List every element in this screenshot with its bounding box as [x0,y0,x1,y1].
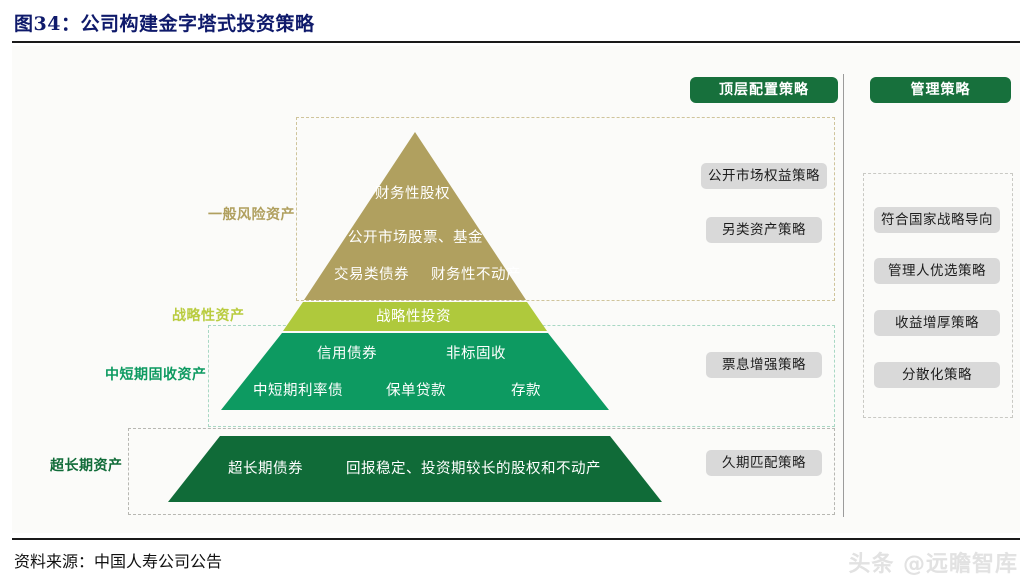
page-title: 图34：公司构建金字塔式投资策略 [14,9,314,36]
mgmt-pill-manager-selection[interactable]: 管理人优选策略 [874,258,1000,284]
tier-item-mid-short-rate-bond: 中短期利率债 [253,379,343,400]
tier-item-deposit: 存款 [511,379,541,400]
tier-label-general-risk: 一般风险资产 [208,204,295,224]
mgmt-pill-diversification[interactable]: 分散化策略 [874,362,1000,388]
footer-divider [12,538,1020,540]
tier-item-nonstandard-fi: 非标固收 [446,342,506,363]
tier-item-public-stock-fund: 公开市场股票、基金 [348,226,483,247]
column-header-top-allocation[interactable]: 顶层配置策略 [690,77,838,103]
column-header-management[interactable]: 管理策略 [870,77,1011,103]
mgmt-pill-national-strategy[interactable]: 符合国家战略导向 [874,207,1000,233]
figure-canvas: 一般风险资产 战略性资产 中短期固收资产 超长期资产 财务性股权 公开市场股票、… [12,46,1020,533]
tier-item-policy-loan: 保单贷款 [386,379,446,400]
tier-label-ultra-long: 超长期资产 [50,455,123,475]
tier-item-credit-bond: 信用债券 [317,342,377,363]
source-note: 资料来源：中国人寿公司公告 [14,548,222,572]
tier-item-financial-realestate: 财务性不动产 [431,263,521,284]
tier-label-mid-short: 中短期固收资产 [105,364,207,384]
watermark: 头条 @远瞻智库 [848,546,1018,578]
tier-item-financial-equity: 财务性股权 [375,182,450,203]
strategy-pill-coupon-enhance[interactable]: 票息增强策略 [706,352,822,378]
strategy-pill-duration-match[interactable]: 久期匹配策略 [706,450,822,476]
strategy-pill-alternative-asset[interactable]: 另类资产策略 [706,217,822,243]
figure-header: 图34：公司构建金字塔式投资策略 [0,0,1032,46]
tier-item-trading-bond: 交易类债券 [334,263,409,284]
tier-item-stable-return-assets: 回报稳定、投资期较长的股权和不动产 [346,457,601,478]
tier-item-strategic-investment: 战略性投资 [376,305,451,326]
strategy-pill-public-equity[interactable]: 公开市场权益策略 [701,163,827,189]
column-divider [843,74,844,517]
tier-item-ultra-long-bond: 超长期债券 [228,457,303,478]
mgmt-pill-yield-enhance[interactable]: 收益增厚策略 [874,310,1000,336]
tier-label-strategic: 战略性资产 [172,305,245,325]
title-divider [12,41,1020,43]
